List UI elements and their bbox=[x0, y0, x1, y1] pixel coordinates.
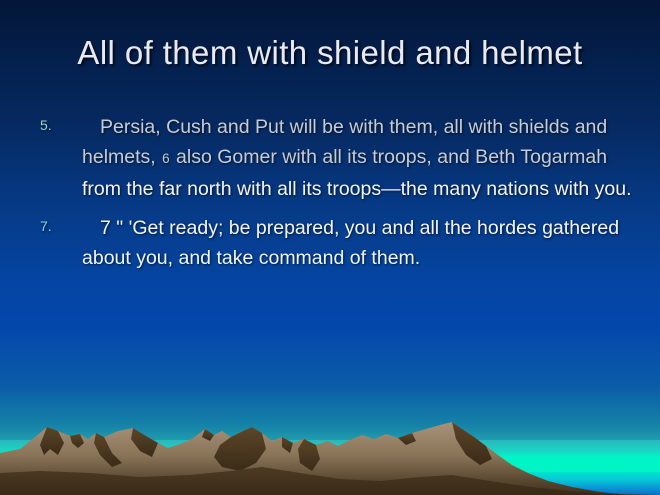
list-item: 7. 7 " 'Get ready; be prepared, you and … bbox=[32, 213, 632, 273]
bullet-segment-text: from the far north with all its troops—t… bbox=[82, 178, 632, 200]
presentation-slide: All of them with shield and helmet 5. Pe… bbox=[0, 0, 660, 495]
list-item: 5. Persia, Cush and Put will be with the… bbox=[32, 112, 632, 204]
bullet-segment-text: 7 " 'Get ready; be prepared, you and all… bbox=[82, 217, 619, 269]
bullet-text: Persia, Cush and Put will be with them, … bbox=[82, 116, 632, 200]
verse-number: 6 bbox=[161, 151, 171, 166]
mountain-range-graphic bbox=[0, 415, 660, 495]
slide-title: All of them with shield and helmet bbox=[0, 34, 660, 72]
bullet-segment-text: also Gomer with all its troops, and Beth… bbox=[171, 146, 607, 168]
bullet-text: 7 " 'Get ready; be prepared, you and all… bbox=[82, 217, 619, 269]
bullet-number: 7. bbox=[40, 217, 52, 235]
bullet-number: 5. bbox=[40, 116, 52, 134]
slide-body: 5. Persia, Cush and Put will be with the… bbox=[32, 112, 632, 282]
